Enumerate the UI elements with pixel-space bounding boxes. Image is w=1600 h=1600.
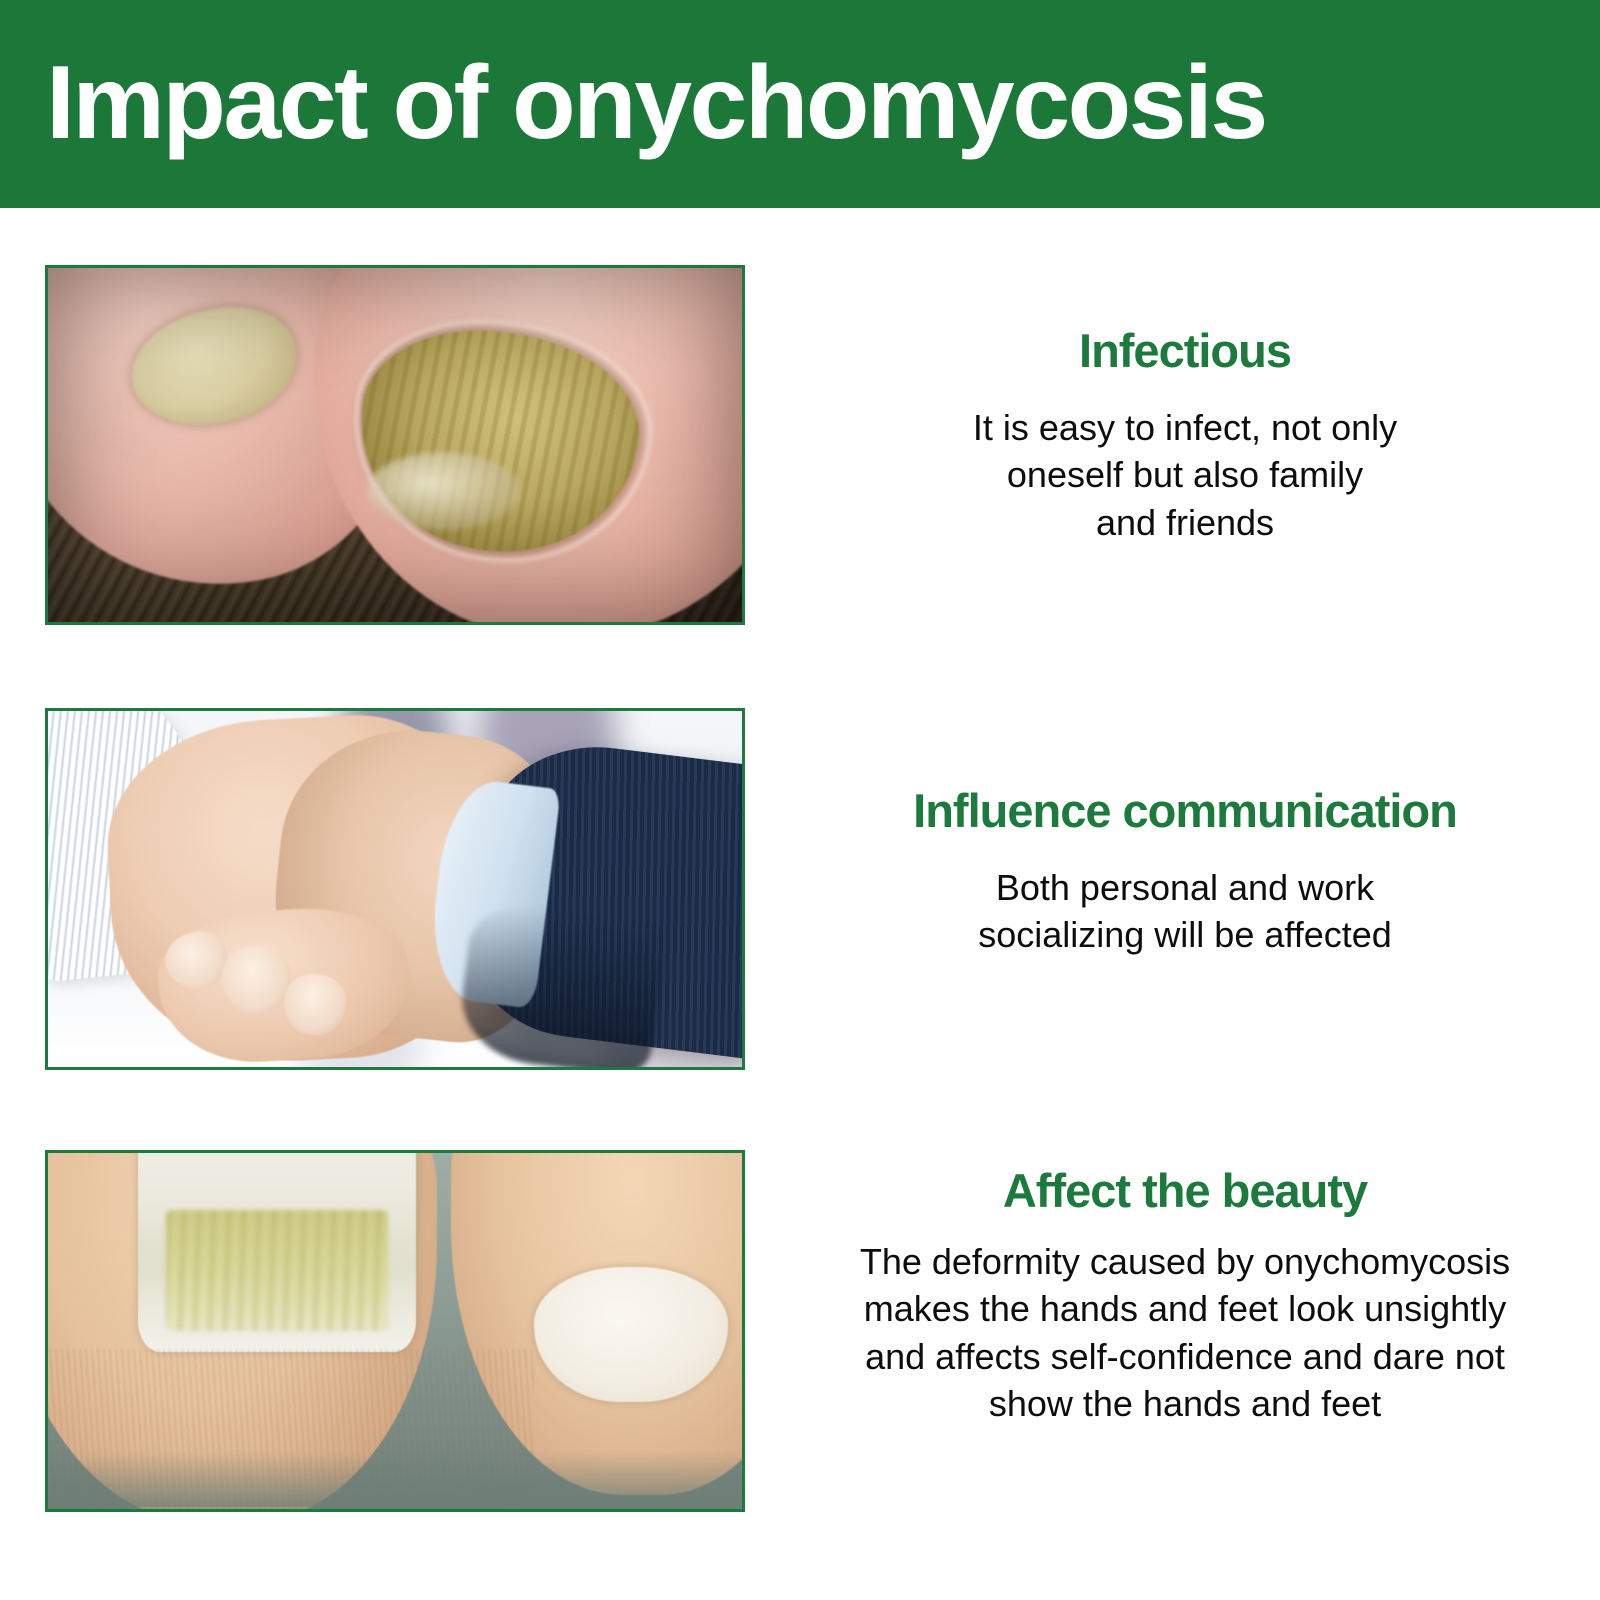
toenail-right [534,1267,728,1402]
body-line: It is easy to infect, not only [780,404,1590,452]
body-line: show the hands and feet [780,1380,1590,1428]
section-heading-influence-communication: Influence communication [780,785,1590,838]
body-line: makes the hands and feet look unsightly [780,1285,1590,1333]
photo-content [48,711,742,1067]
page-title: Impact of onychomycosis [0,49,1266,158]
infected-toenails-photo [45,265,745,625]
photo-vignette [48,268,742,622]
body-line: and friends [780,499,1590,547]
body-line: socializing will be affected [780,911,1590,959]
text-block-infectious: Infectious It is easy to infect, not onl… [770,325,1600,546]
nail-discoloration-patch [166,1210,388,1331]
section-body-influence-communication: Both personal and work socializing will … [780,864,1590,959]
section-heading-affect-the-beauty: Affect the beauty [780,1165,1590,1218]
section-body-infectious: It is easy to infect, not only oneself b… [780,404,1590,547]
photo-depth-blur [48,1452,742,1509]
header-bar: Impact of onychomycosis [0,0,1600,208]
handshake-photo [45,708,745,1070]
body-line: Both personal and work [780,864,1590,912]
section-heading-infectious: Infectious [780,325,1590,378]
body-line: The deformity caused by onychomycosis [780,1238,1590,1286]
body-line: and affects self-confidence and dare not [780,1333,1590,1381]
photo-content [48,1153,742,1509]
photo-content [48,268,742,622]
section-body-affect-the-beauty: The deformity caused by onychomycosis ma… [780,1238,1590,1428]
sleeve-shadow [456,899,668,1067]
body-line: oneself but also family [780,451,1590,499]
text-block-affect-the-beauty: Affect the beauty The deformity caused b… [770,1165,1600,1428]
text-block-influence-communication: Influence communication Both personal an… [770,785,1600,959]
discolored-big-toenail-photo [45,1150,745,1512]
